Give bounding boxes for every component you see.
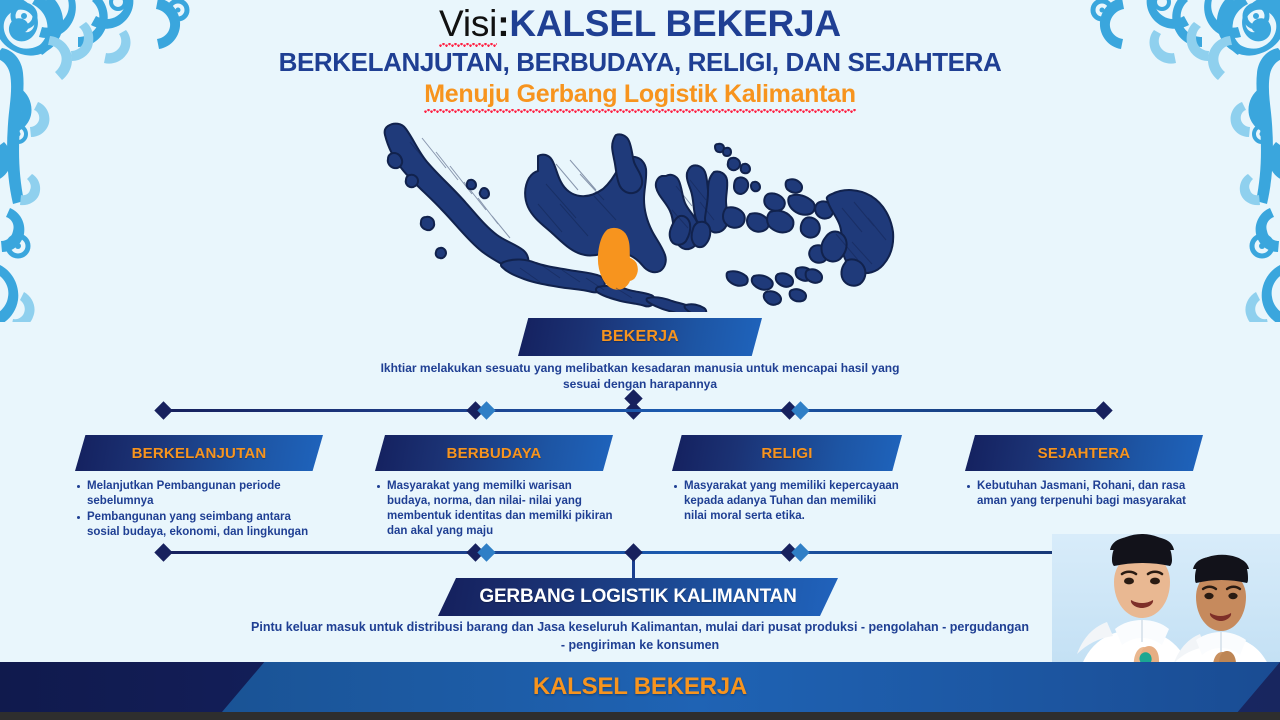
indonesia-map [380,112,900,312]
pillar-label: SEJAHTERA [1038,445,1131,462]
pillar-berkelanjutan: BERKELANJUTAN Melanjutkan Pembangunan pe… [75,435,323,541]
gerbang-description: Pintu keluar masuk untuk distribusi bara… [250,618,1030,654]
pillar-banner-berkelanjutan[interactable]: BERKELANJUTAN [75,435,323,471]
connector-line-upper [163,409,1103,412]
connector-node-upper-3b [791,401,809,419]
vision-colon: : [497,3,509,44]
pillar-sejahtera: SEJAHTERA Kebutuhan Jasmani, Rohani, dan… [965,435,1203,510]
pillar-berbudaya: BERBUDAYA Masyarakat yang memilki warisa… [375,435,613,540]
vision-tagline: Menuju Gerbang Logistik Kalimantan [424,78,856,113]
pillar-label: BERKELANJUTAN [132,445,267,462]
pillar-points-list: Masyarakat yang memiliki kepercayaan kep… [672,479,902,524]
pillar-point: Kebutuhan Jasmani, Rohani, dan rasa aman… [977,479,1203,509]
gerbang-banner[interactable]: GERBANG LOGISTIK KALIMANTAN [438,578,838,616]
footer-label: KALSEL BEKERJA [0,662,1280,712]
connector-node-lower-1 [154,543,172,561]
core-banner-label: BEKERJA [601,328,679,346]
pillar-banner-sejahtera[interactable]: SEJAHTERA [965,435,1203,471]
pillar-point: Masyarakat yang memilki warisan budaya, … [387,479,613,539]
vision-label: Visi [439,3,497,47]
pillar-point: Melanjutkan Pembangunan periode sebelumn… [87,479,323,509]
pillar-points-list: Kebutuhan Jasmani, Rohani, dan rasa aman… [965,479,1203,509]
connector-node-lower-2b [477,543,495,561]
pillar-banner-berbudaya[interactable]: BERBUDAYA [375,435,613,471]
pillar-label: BERBUDAYA [447,445,542,462]
connector-node-upper-2b [477,401,495,419]
pillar-point: Masyarakat yang memiliki kepercayaan kep… [684,479,902,524]
header-block: Visi:KALSEL BEKERJA BERKELANJUTAN, BERBU… [0,0,1280,113]
gerbang-banner-label: GERBANG LOGISTIK KALIMANTAN [479,586,796,608]
slide-canvas: Visi:KALSEL BEKERJA BERKELANJUTAN, BERBU… [0,0,1280,720]
connector-node-lower-3b [791,543,809,561]
vision-subtitle: BERKELANJUTAN, BERBUDAYA, RELIGI, DAN SE… [0,46,1280,78]
connector-node-upper-1 [154,401,172,419]
pillar-label: RELIGI [761,445,812,462]
pillar-points-list: Melanjutkan Pembangunan periode sebelumn… [75,479,323,540]
connector-node-gerbang-top [624,543,642,561]
pillar-banner-religi[interactable]: RELIGI [672,435,902,471]
vision-title-line: Visi:KALSEL BEKERJA [0,0,1280,46]
core-description: Ikhtiar melakukan sesuatu yang melibatka… [380,360,900,392]
pillar-points-list: Masyarakat yang memilki warisan budaya, … [375,479,613,539]
core-banner-bekerja[interactable]: BEKERJA [518,318,762,356]
vision-statement: KALSEL BEKERJA [509,3,841,44]
pillar-religi: RELIGI Masyarakat yang memiliki kepercay… [672,435,902,525]
connector-node-upper-4 [1094,401,1112,419]
pillar-point: Pembangunan yang seimbang antara sosial … [87,510,323,540]
bottom-strip [0,712,1280,720]
